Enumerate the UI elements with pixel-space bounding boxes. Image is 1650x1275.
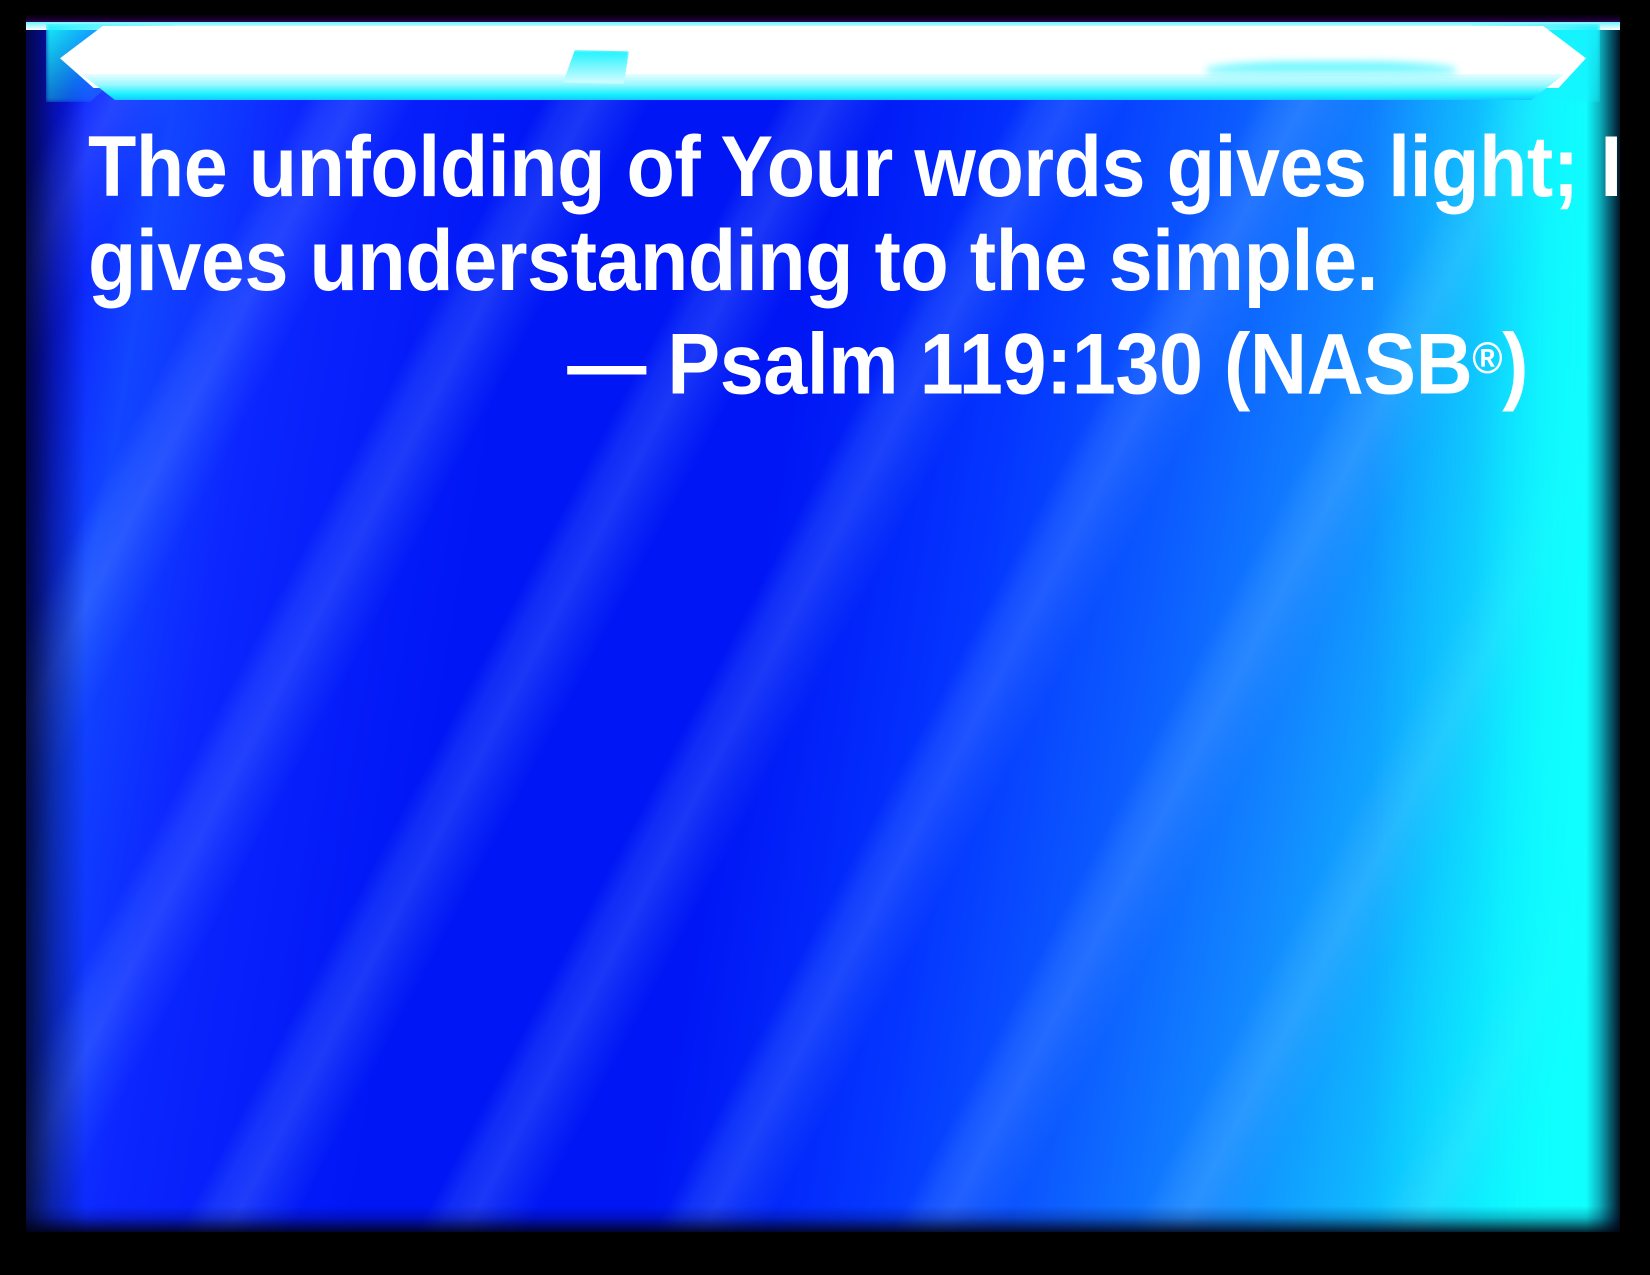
background-left-edge-shade (26, 14, 86, 1232)
verse-line-2: gives understanding to the simple. (88, 214, 1413, 308)
citation-reference-text: — Psalm 119:130 (NASB (567, 317, 1472, 413)
top-banner (26, 14, 1620, 114)
verse-line-1: The unfolding of Your words gives light;… (88, 120, 1413, 214)
citation-close-paren: ) (1502, 317, 1528, 413)
slide-artwork-canvas: The unfolding of Your words gives light;… (26, 14, 1620, 1232)
background-bottom-edge-shade (26, 1206, 1620, 1232)
registered-trademark-icon: ® (1472, 334, 1502, 383)
verse-text-block: The unfolding of Your words gives light;… (88, 120, 1528, 412)
banner-cyan-smear (1206, 62, 1456, 80)
banner-top-hairline (26, 14, 1620, 22)
verse-slide: The unfolding of Your words gives light;… (0, 0, 1650, 1275)
verse-citation: — Psalm 119:130 (NASB®) (203, 312, 1528, 412)
